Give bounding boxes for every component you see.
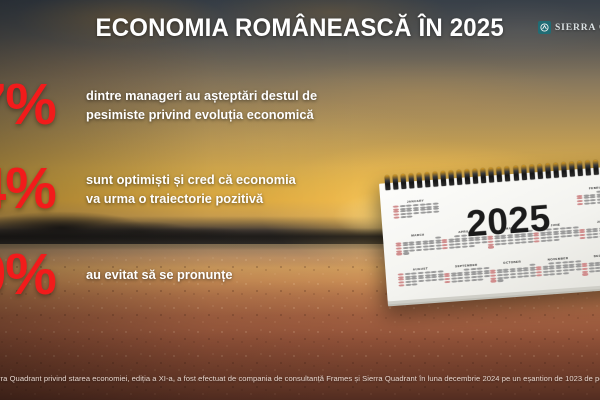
calendar-coil <box>408 173 414 188</box>
calendar-year: 2025 <box>465 197 552 245</box>
calendar-month-days <box>576 189 600 208</box>
brand-logo: SIERRA QU <box>538 21 600 34</box>
page-title-text: ECONOMIA ROMÂNEASCĂ ÎN 2025 <box>96 14 504 43</box>
stat-percent: 9% <box>0 246 86 304</box>
calendar-month: DECEMBER <box>581 252 600 276</box>
calendar-month: JULY <box>578 218 600 242</box>
calendar-month: OCTOBER <box>489 259 536 283</box>
calendar-coil <box>545 163 551 178</box>
calendar-coil <box>432 171 438 186</box>
stat-percent: 4% <box>0 160 86 218</box>
infographic-canvas: ECONOMIA ROMÂNEASCĂ ÎN 2025 SIERRA QU 7%… <box>0 0 600 400</box>
calendar-coil <box>505 166 511 181</box>
calendar-month-days <box>535 260 582 279</box>
calendar-coil <box>577 161 583 176</box>
stat-row: 4% sunt optimiști și cred că economia va… <box>0 160 296 218</box>
calendar-coil <box>481 168 487 183</box>
calendar-coil <box>537 164 543 179</box>
calendar-month: NOVEMBER <box>535 255 582 279</box>
calendar-coil <box>424 172 430 187</box>
calendar-coil <box>473 168 479 183</box>
calendar-coil <box>392 174 398 189</box>
page-title: ECONOMIA ROMÂNEASCĂ ÎN 2025 <box>0 14 600 43</box>
calendar-month-days <box>489 264 536 283</box>
desk-calendar: JANUARYFEBRUARYMARCHAPRILMAYJUNEJULYAUGU… <box>378 158 600 304</box>
footnote: ierra Quadrant privind starea economiei,… <box>0 374 600 383</box>
calendar-month: JANUARY <box>392 197 439 221</box>
calendar-coil <box>416 173 422 188</box>
stat-description-line: dintre manageri au așteptări destul de <box>86 86 317 105</box>
stat-row: 7% dintre manageri au așteptări destul d… <box>0 76 317 134</box>
calendar-month-days <box>581 257 600 276</box>
calendar-coil <box>593 160 599 175</box>
calendar-coil <box>457 170 463 185</box>
calendar-coil <box>561 162 567 177</box>
stat-description-line: va urma o traiectorie pozitivă <box>86 189 296 208</box>
calendar-month: FEBRUARY <box>576 184 600 208</box>
calendar-month: AUGUST <box>397 265 444 289</box>
calendar-month-days <box>579 223 600 242</box>
calendar-coil <box>521 165 527 180</box>
stat-description-line: sunt optimiști și cred că economia <box>86 170 296 189</box>
calendar-month-days <box>444 267 491 286</box>
calendar-coil <box>400 174 406 189</box>
stat-description-line: au evitat să se pronunțe <box>86 265 233 284</box>
calendar-coil <box>513 166 519 181</box>
calendar-month: MARCH <box>395 231 442 255</box>
calendar-coil <box>384 175 390 190</box>
stat-description-line: pesimiste privind evoluția economică <box>86 105 317 124</box>
stat-row: 9% au evitat să se pronunțe <box>0 246 233 304</box>
stat-percent: 7% <box>0 76 86 134</box>
calendar-month: SEPTEMBER <box>443 262 490 286</box>
stat-description: au evitat să se pronunțe <box>86 265 233 284</box>
calendar-coil <box>585 160 591 175</box>
calendar-month-days <box>395 236 442 255</box>
stat-description: dintre manageri au așteptări destul de p… <box>86 86 317 125</box>
calendar-coil <box>553 163 559 178</box>
stat-description: sunt optimiști și cred că economia va ur… <box>86 170 296 209</box>
calendar-month-days <box>398 270 445 289</box>
calendar-coil <box>529 164 535 179</box>
calendar-coil <box>440 171 446 186</box>
sierra-quadrant-monogram-icon <box>538 21 551 34</box>
calendar-month-days <box>393 202 440 221</box>
brand-logo-wordmark: SIERRA QU <box>555 23 600 33</box>
calendar-coil <box>497 167 503 182</box>
calendar-coil <box>569 161 575 176</box>
calendar-coil <box>465 169 471 184</box>
calendar-coil <box>449 170 455 185</box>
calendar-coil <box>489 167 495 182</box>
